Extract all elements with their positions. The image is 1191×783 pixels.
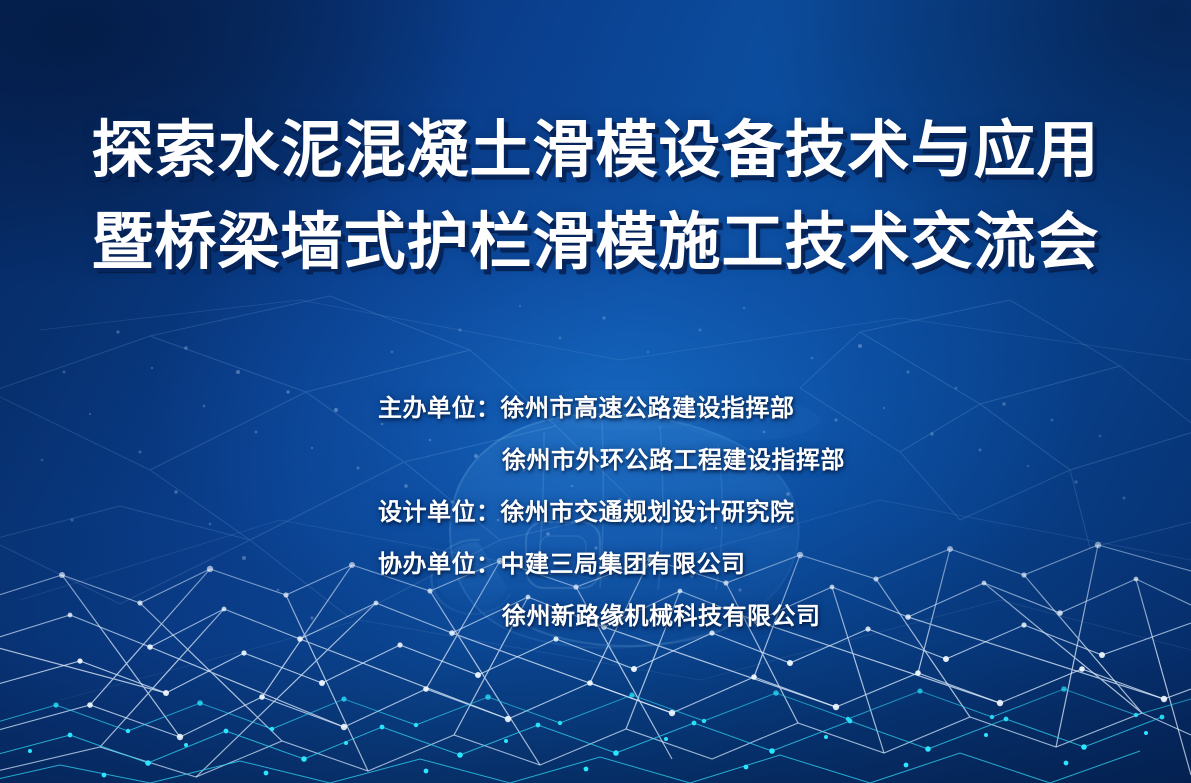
credit-value-coorganizer-2: 徐州新路缘机械科技有限公司 xyxy=(502,602,821,630)
credit-value-designer: 徐州市交通规划设计研究院 xyxy=(501,498,795,526)
credit-value-host-2: 徐州市外环公路工程建设指挥部 xyxy=(502,446,845,474)
credit-line-coorganizer-1: 协办单位：中建三局集团有限公司 xyxy=(378,538,1018,590)
credit-line-host-2: 徐州市外环公路工程建设指挥部 xyxy=(378,434,1018,486)
title-line-2: 暨桥梁墙式护栏滑模施工技术交流会 xyxy=(0,196,1191,288)
banner-title: 探索水泥混凝土滑模设备技术与应用 暨桥梁墙式护栏滑模施工技术交流会 xyxy=(0,104,1191,288)
credit-value-host-1: 徐州市高速公路建设指挥部 xyxy=(501,394,795,422)
credit-line-coorganizer-2: 徐州新路缘机械科技有限公司 xyxy=(378,590,1018,642)
credit-value-coorganizer-1: 中建三局集团有限公司 xyxy=(501,550,746,578)
credit-label-designer: 设计单位： xyxy=(378,498,501,526)
credit-line-designer: 设计单位：徐州市交通规划设计研究院 xyxy=(378,486,1018,538)
organizer-credits: 主办单位：徐州市高速公路建设指挥部 徐州市外环公路工程建设指挥部 设计单位：徐州… xyxy=(378,382,1018,642)
credit-label-coorganizer: 协办单位： xyxy=(378,550,501,578)
banner-canvas: 探索水泥混凝土滑模设备技术与应用 暨桥梁墙式护栏滑模施工技术交流会 主办单位：徐… xyxy=(0,0,1191,783)
credit-label-host: 主办单位： xyxy=(378,394,501,422)
credit-line-host-1: 主办单位：徐州市高速公路建设指挥部 xyxy=(378,382,1018,434)
title-line-1: 探索水泥混凝土滑模设备技术与应用 xyxy=(0,104,1191,196)
banner-content: 探索水泥混凝土滑模设备技术与应用 暨桥梁墙式护栏滑模施工技术交流会 主办单位：徐… xyxy=(0,0,1191,783)
